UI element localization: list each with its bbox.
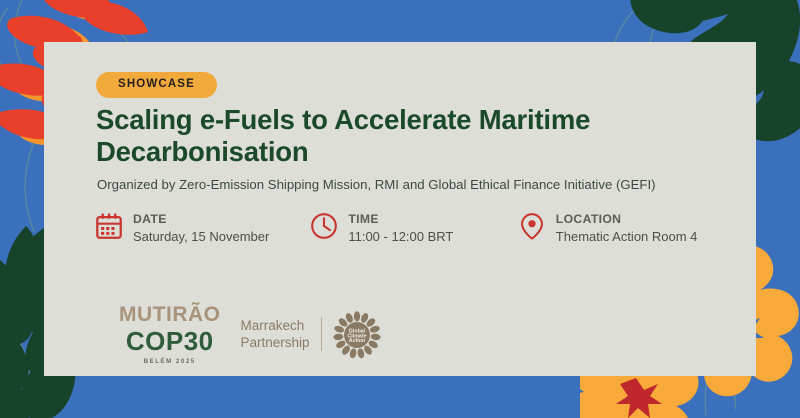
map-pin-icon [517,211,547,241]
meta-label-location: LOCATION [556,212,698,227]
event-title: Scaling e-Fuels to Accelerate Maritime D… [96,104,696,168]
event-card: SHOWCASE Scaling e-Fuels to Accelerate M… [44,42,756,376]
marrakech-partnership-logo: Marrakech Partnership [241,311,381,359]
meta-item-date: DATE Saturday, 15 November [94,210,309,246]
meta-value-location: Thematic Action Room 4 [556,228,698,246]
marrakech-partnership-line1: Marrakech [241,318,310,335]
calendar-icon [94,211,124,241]
meta-text-location: LOCATION Thematic Action Room 4 [556,210,698,246]
event-meta-row: DATE Saturday, 15 November TIME 11:00 - … [94,210,744,246]
cop30-logo-cop30: COP30 [126,328,214,354]
global-climate-action-emblem-icon: Global Climate Action [333,311,381,359]
meta-text-date: DATE Saturday, 15 November [133,210,269,246]
gca-line3: Action [348,338,364,344]
event-organizer: Organized by Zero-Emission Shipping Miss… [97,176,757,193]
meta-value-time: 11:00 - 12:00 BRT [348,228,453,246]
meta-text-time: TIME 11:00 - 12:00 BRT [348,210,453,246]
cop30-logo-mutirao: MUTIRÃO [119,304,221,325]
cop30-logo-belem: BELÉM 2025 [144,359,196,365]
meta-item-time: TIME 11:00 - 12:00 BRT [309,210,516,246]
showcase-badge: SHOWCASE [96,72,217,98]
cop30-logo: MUTIRÃO COP30 BELÉM 2025 [119,304,221,365]
meta-label-time: TIME [348,212,453,227]
clock-icon [309,211,339,241]
meta-item-location: LOCATION Thematic Action Room 4 [517,210,744,246]
event-poster: SHOWCASE Scaling e-Fuels to Accelerate M… [0,0,800,418]
marrakech-partnership-wordmark: Marrakech Partnership [241,318,322,352]
meta-label-date: DATE [133,212,269,227]
marrakech-partnership-line2: Partnership [241,335,310,352]
logo-row: MUTIRÃO COP30 BELÉM 2025 Marrakech Partn… [119,304,381,365]
meta-value-date: Saturday, 15 November [133,228,269,246]
